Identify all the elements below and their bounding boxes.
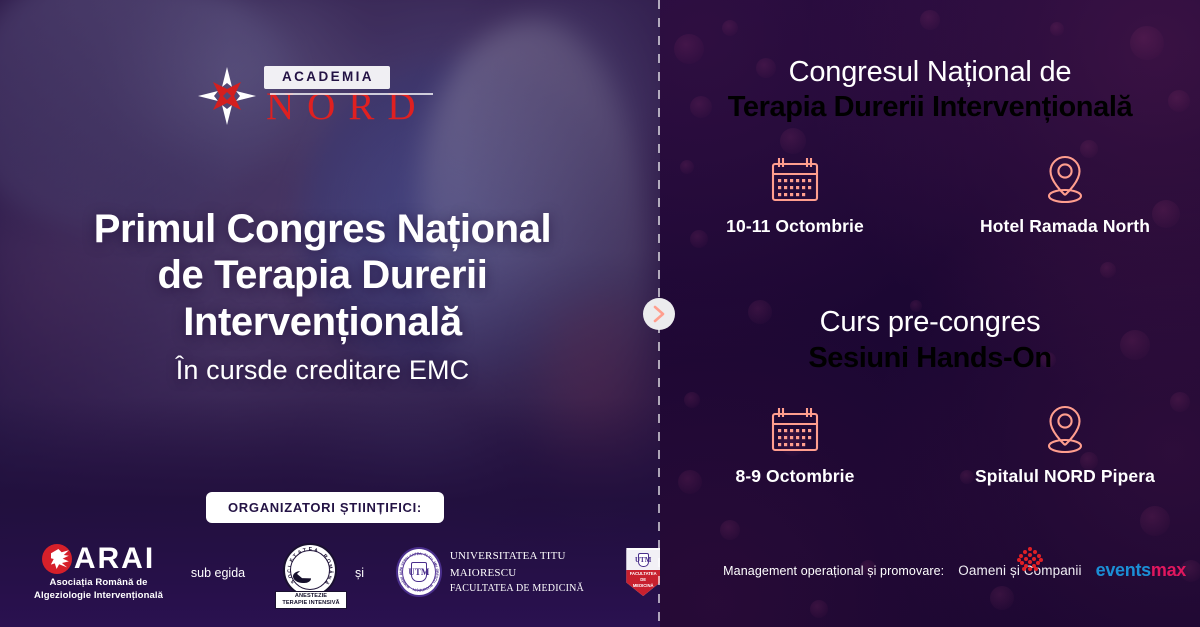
page-title: Primul Congres Național de Terapia Durer… (0, 206, 645, 345)
calendar-icon (769, 400, 821, 462)
organizers-badge: ORGANIZATORI ȘTIINȚIFICI: (206, 492, 444, 523)
map-pin-icon (1037, 150, 1093, 212)
dot-cluster-icon (1017, 547, 1043, 569)
arai-logo: ARAI Asociația Română de Algeziologie In… (16, 544, 181, 603)
congress-date-cell: 10-11 Octombrie (660, 150, 930, 237)
headline-line-1: Primul Congres Național (0, 206, 645, 252)
congress-info-row: 10-11 Octombrie Hotel Ramada North (660, 150, 1200, 237)
arai-subtitle: Asociația Română de Algeziologie Interve… (16, 577, 181, 603)
arai-subtitle-line-2: Algeziologie Intervențională (16, 590, 181, 603)
congress-date-label: 10-11 Octombrie (726, 216, 864, 237)
footer-management-label: Management operațional și promovare: (723, 564, 944, 578)
srati-band-line-1: ANESTEZIE (276, 593, 346, 600)
calendar-icon (769, 150, 821, 212)
precourse-info-row: 8-9 Octombrie Spitalul NORD Pipera (660, 400, 1200, 487)
precourse-title-line-2: Sesiuni Hands-On (660, 341, 1200, 376)
precourse-date-cell: 8-9 Octombrie (660, 400, 930, 487)
arai-subtitle-line-1: Asociația Română de (16, 577, 181, 590)
oameni-si-companii-logo: Oameni și Companii (958, 563, 1081, 578)
left-panel: ACADEMIA NORD Primul Congres Național de… (0, 0, 660, 627)
utm-faculty-shield: UTM FACULTATEA DE MEDICINĂ (626, 548, 660, 596)
precourse-title-line-1: Curs pre-congres (660, 305, 1200, 340)
headline-line-2: de Terapia Durerii (0, 252, 645, 298)
eventsmax-logo: eventsmax (1096, 560, 1186, 581)
headline-line-3: Intervențională (0, 299, 645, 345)
utm-name-line-2: FACULTATEA DE MEDICINĂ (450, 581, 619, 596)
arai-acronym: ARAI (74, 544, 155, 574)
congress-title-line-1: Congresul Național de (660, 55, 1200, 90)
srati-band-line-2: TERAPIE INTENSIVĂ (276, 600, 346, 607)
chevron-right-icon[interactable] (643, 298, 675, 330)
right-panel: Congresul Național de Terapia Durerii In… (660, 0, 1200, 627)
congress-venue-cell: Hotel Ramada North (930, 150, 1200, 237)
utm-name-line-1: UNIVERSITATEA TITU MAIORESCU (450, 548, 619, 581)
utm-name: UNIVERSITATEA TITU MAIORESCU FACULTATEA … (450, 548, 619, 596)
congress-title-line-2: Terapia Durerii Intervențională (660, 90, 1200, 125)
eventsmax-prefix: events (1096, 560, 1151, 580)
utm-shield-monogram: UTM (638, 553, 649, 567)
map-pin-icon (1037, 400, 1093, 462)
utm-seal-icon: UNIVERSITATEA TITU MAIORESCU BUCUREȘTI R… (396, 547, 442, 597)
utm-shield-line-3: MEDICINĂ (633, 583, 654, 589)
compass-rose-icon (196, 65, 258, 127)
accreditation-note: În cursde creditare EMC (0, 355, 645, 386)
academia-nord-logo: ACADEMIA NORD (196, 62, 431, 130)
precourse-venue-cell: Spitalul NORD Pipera (930, 400, 1200, 487)
srati-band: ANESTEZIE TERAPIE INTENSIVĂ (275, 591, 347, 609)
academia-nord-wordmark: ACADEMIA NORD (264, 66, 429, 126)
si-conjunction: și (355, 566, 364, 580)
precourse-date-label: 8-9 Octombrie (736, 466, 855, 487)
conference-banner: ACADEMIA NORD Primul Congres Național de… (0, 0, 1200, 627)
arai-hand-icon (42, 544, 72, 574)
utm-logo: UNIVERSITATEA TITU MAIORESCU BUCUREȘTI R… (396, 547, 660, 597)
srati-logo: SOCIETATEA ROMÂNĂ ANESTEZIE TERAPIE INTE… (275, 543, 347, 605)
sub-egida-label: sub egida (186, 566, 250, 580)
precourse-venue-label: Spitalul NORD Pipera (975, 466, 1155, 487)
footer-partners: Management operațional și promovare: Oam… (660, 560, 1200, 581)
eventsmax-suffix: max (1151, 560, 1186, 580)
congress-venue-label: Hotel Ramada North (980, 216, 1150, 237)
logo-rule (270, 93, 433, 95)
hands-emblem-icon (290, 550, 330, 590)
